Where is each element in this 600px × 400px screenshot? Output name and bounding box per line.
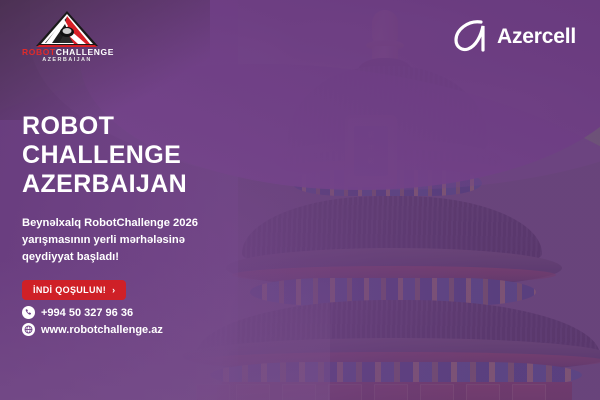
- join-now-button-label: İNDİ QOŞULUN!: [33, 285, 106, 295]
- robotchallenge-azerbaijan-banner: 祈 年 殿: [0, 0, 600, 400]
- headline-line-1: ROBOT: [22, 112, 272, 141]
- chevron-right-icon: ›: [112, 285, 115, 295]
- phone-number: +994 50 327 96 36: [41, 307, 133, 319]
- azercell-logo[interactable]: Azercell: [454, 20, 576, 52]
- logo-word-robot: ROBOT: [22, 47, 56, 57]
- robot-triangle-emblem-icon: [34, 10, 100, 48]
- robotchallenge-logo[interactable]: ROBOTCHALLENGE AZERBAIJAN: [22, 10, 112, 66]
- azercell-a-swoosh-icon: [454, 20, 492, 52]
- contact-phone[interactable]: +994 50 327 96 36: [22, 306, 163, 319]
- phone-icon: [22, 306, 35, 319]
- contact-info: +994 50 327 96 36 www.robotchallenge.az: [22, 306, 163, 336]
- azercell-wordmark: Azercell: [497, 26, 576, 47]
- headline-line-2: CHALLENGE: [22, 141, 272, 170]
- globe-glyph: [24, 325, 33, 334]
- join-now-button[interactable]: İNDİ QOŞULUN! ›: [22, 280, 126, 300]
- headline-line-3: AZERBAIJAN: [22, 170, 272, 199]
- phone-glyph: [24, 308, 33, 317]
- robotchallenge-logo-subtitle: AZERBAIJAN: [22, 58, 112, 64]
- announcement-text: Beynəlxalq RobotChallenge 2026 yarışması…: [22, 215, 237, 266]
- headline: ROBOT CHALLENGE AZERBAIJAN: [22, 112, 272, 199]
- website-url: www.robotchallenge.az: [41, 324, 163, 336]
- globe-icon: [22, 323, 35, 336]
- robotchallenge-logo-wordmark: ROBOTCHALLENGE: [22, 48, 112, 57]
- logo-word-challenge: CHALLENGE: [56, 47, 114, 57]
- contact-website[interactable]: www.robotchallenge.az: [22, 323, 163, 336]
